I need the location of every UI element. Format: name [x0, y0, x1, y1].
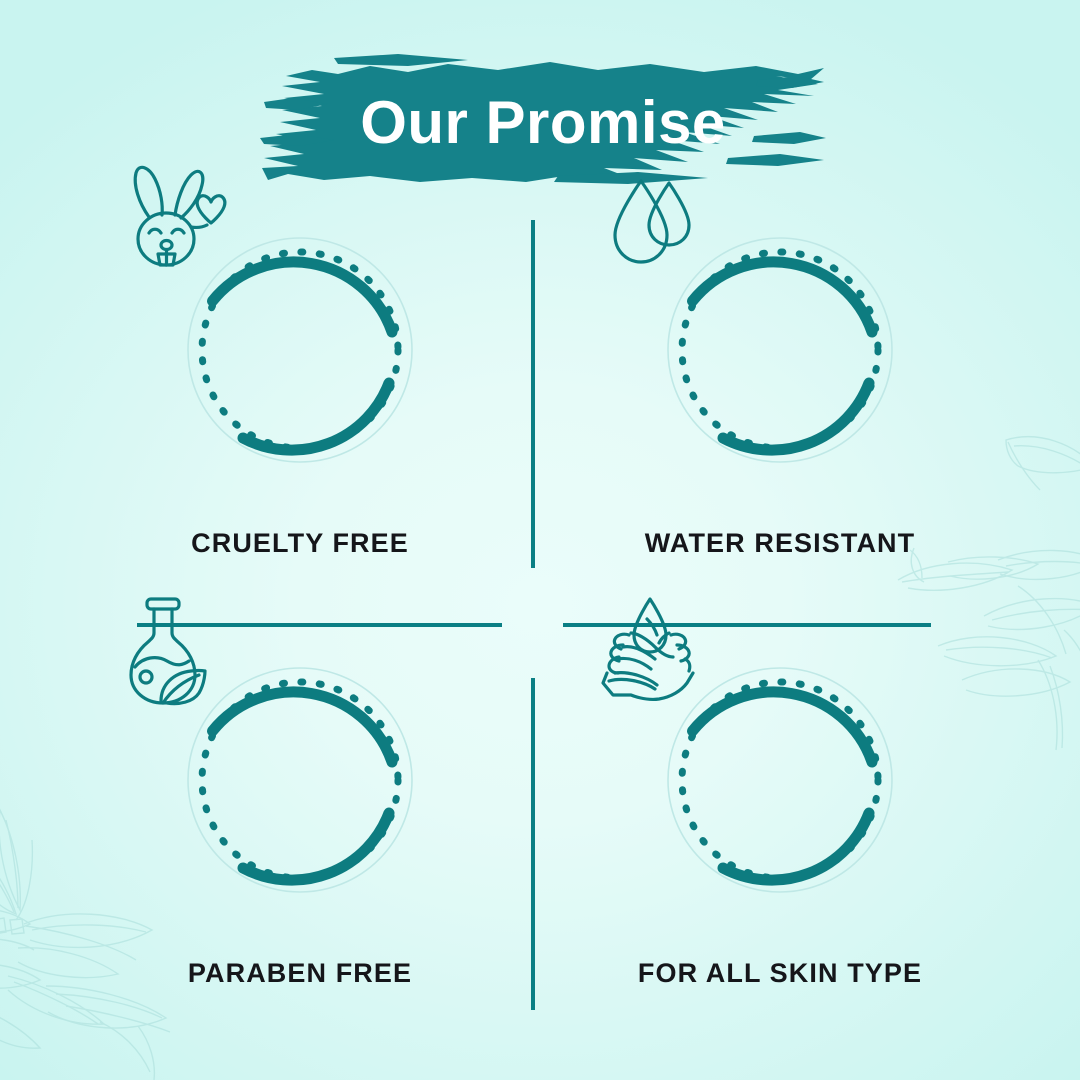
flask-leaf-icon	[105, 585, 235, 715]
title-banner: Our Promise	[258, 50, 828, 195]
promise-item-paraben-free: PARABEN FREE	[60, 650, 540, 1045]
promise-item-all-skin-type: FOR ALL SKIN TYPE	[540, 650, 1020, 1045]
promise-label: PARABEN FREE	[60, 958, 540, 989]
badge-ring	[170, 650, 430, 910]
promise-grid: CRUELTY FREE WATER RESISTANT	[0, 200, 1080, 1030]
badge-ring	[650, 650, 910, 910]
promise-infographic: Our Promise	[0, 0, 1080, 1080]
rabbit-heart-icon	[105, 155, 235, 285]
arc-top	[213, 262, 393, 332]
arc-top	[213, 692, 393, 762]
promise-label: FOR ALL SKIN TYPE	[540, 958, 1020, 989]
promise-label: CRUELTY FREE	[60, 528, 540, 559]
promise-item-water-resistant: WATER RESISTANT	[540, 220, 1020, 615]
badge-ring	[170, 220, 430, 480]
arc-top	[693, 262, 873, 332]
hands-droplet-icon	[585, 585, 715, 715]
water-droplets-icon	[585, 155, 715, 285]
page-title: Our Promise	[258, 50, 828, 195]
arc-top	[693, 692, 873, 762]
promise-item-cruelty-free: CRUELTY FREE	[60, 220, 540, 615]
badge-ring	[650, 220, 910, 480]
promise-label: WATER RESISTANT	[540, 528, 1020, 559]
